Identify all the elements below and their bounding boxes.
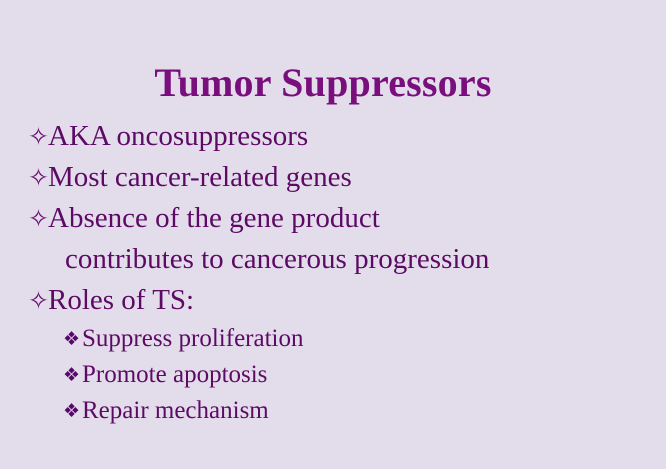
page-title: Tumor Suppressors <box>0 60 646 106</box>
diamond-bullet-icon: ❖ <box>63 393 82 429</box>
bullet-line: Roles of TS: <box>48 284 194 316</box>
bullet-text: Roles of TS: <box>48 280 648 321</box>
bullet-line: Absence of the gene product <box>48 202 380 234</box>
diamond-bullet-icon: ❖ <box>63 321 82 357</box>
bullet-line: Most cancer-related genes <box>48 161 352 193</box>
bullet-text: Absence of the gene productcontributes t… <box>48 198 648 280</box>
bullet-list: ✧AKA oncosuppressors✧Most cancer-related… <box>28 116 648 429</box>
bullet-item: ✧Roles of TS: <box>28 280 648 321</box>
star-bullet-icon: ✧ <box>28 280 48 321</box>
bullet-text: Most cancer-related genes <box>48 157 648 198</box>
sub-bullet-item: ❖Repair mechanism <box>63 393 648 429</box>
presentation-slide: Tumor Suppressors ✧AKA oncosuppressors✧M… <box>0 0 666 469</box>
star-bullet-icon: ✧ <box>28 116 48 157</box>
bullet-text: Suppress proliferation <box>82 321 648 357</box>
star-bullet-icon: ✧ <box>28 198 48 239</box>
diamond-bullet-icon: ❖ <box>63 357 82 393</box>
bullet-line: Suppress proliferation <box>82 325 303 352</box>
bullet-item: ✧AKA oncosuppressors <box>28 116 648 157</box>
star-bullet-icon: ✧ <box>28 157 48 198</box>
bullet-item: ✧Absence of the gene productcontributes … <box>28 198 648 280</box>
bullet-text: Promote apoptosis <box>82 357 648 393</box>
bullet-text: Repair mechanism <box>82 393 648 429</box>
sub-bullet-item: ❖Promote apoptosis <box>63 357 648 393</box>
bullet-item: ✧Most cancer-related genes <box>28 157 648 198</box>
bullet-text: AKA oncosuppressors <box>48 116 648 157</box>
sub-bullet-item: ❖Suppress proliferation <box>63 321 648 357</box>
bullet-line: contributes to cancerous progression <box>48 239 648 280</box>
bullet-line: AKA oncosuppressors <box>48 120 308 152</box>
bullet-line: Repair mechanism <box>82 397 269 424</box>
bullet-line: Promote apoptosis <box>82 361 267 388</box>
